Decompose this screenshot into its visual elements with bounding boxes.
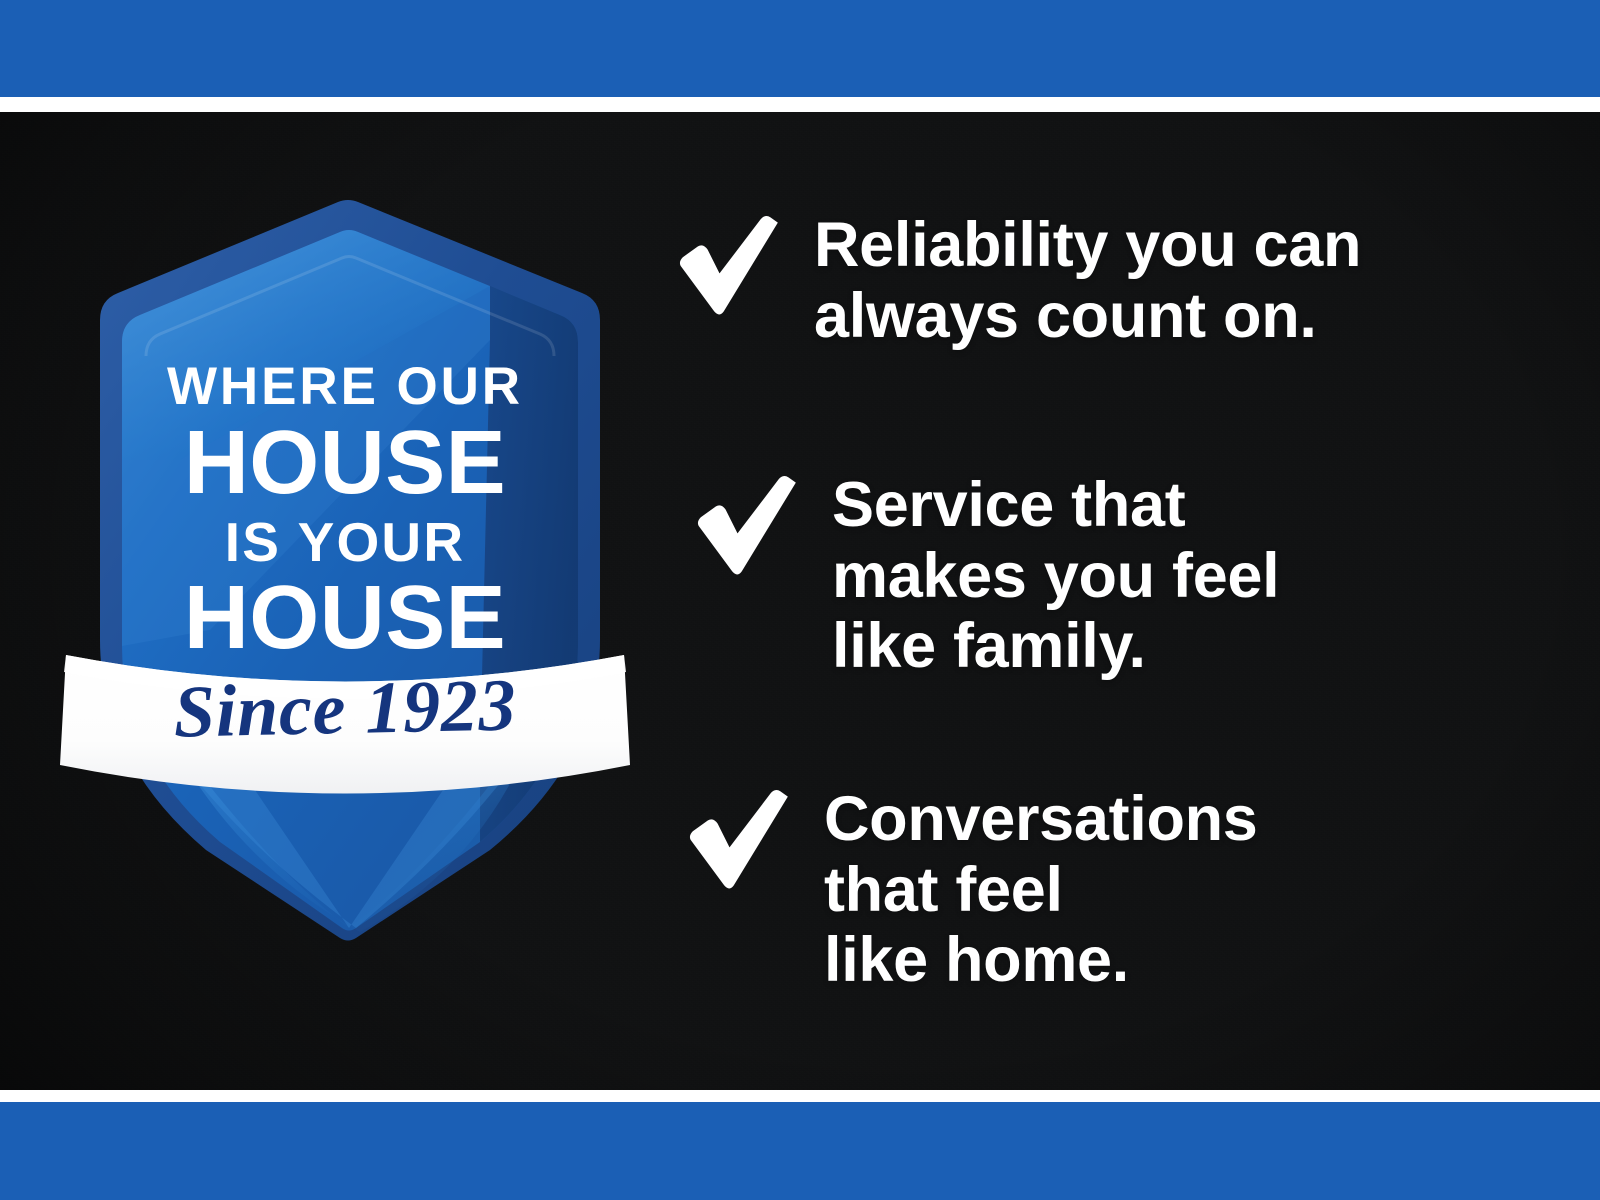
shield-badge: WHERE OUR HOUSE IS YOUR HOUSE Since 1923 bbox=[60, 160, 630, 950]
benefit-item: Service that makes you feel like family. bbox=[690, 470, 1279, 682]
top-brand-bar bbox=[0, 0, 1600, 97]
benefit-text: Reliability you can always count on. bbox=[814, 210, 1361, 351]
checkmark-icon bbox=[672, 214, 780, 322]
benefit-item: Reliability you can always count on. bbox=[672, 210, 1361, 351]
benefits-list: Reliability you can always count on. Ser… bbox=[672, 112, 1552, 1090]
top-white-divider bbox=[0, 97, 1600, 112]
checkmark-icon bbox=[690, 474, 798, 582]
bottom-white-divider bbox=[0, 1090, 1600, 1102]
benefit-text: Conversations that feel like home. bbox=[824, 784, 1258, 996]
promo-graphic: WHERE OUR HOUSE IS YOUR HOUSE Since 1923… bbox=[0, 0, 1600, 1200]
checkmark-icon bbox=[682, 788, 790, 896]
bottom-brand-bar bbox=[0, 1102, 1600, 1200]
benefit-item: Conversations that feel like home. bbox=[682, 784, 1258, 996]
benefit-text: Service that makes you feel like family. bbox=[832, 470, 1279, 682]
